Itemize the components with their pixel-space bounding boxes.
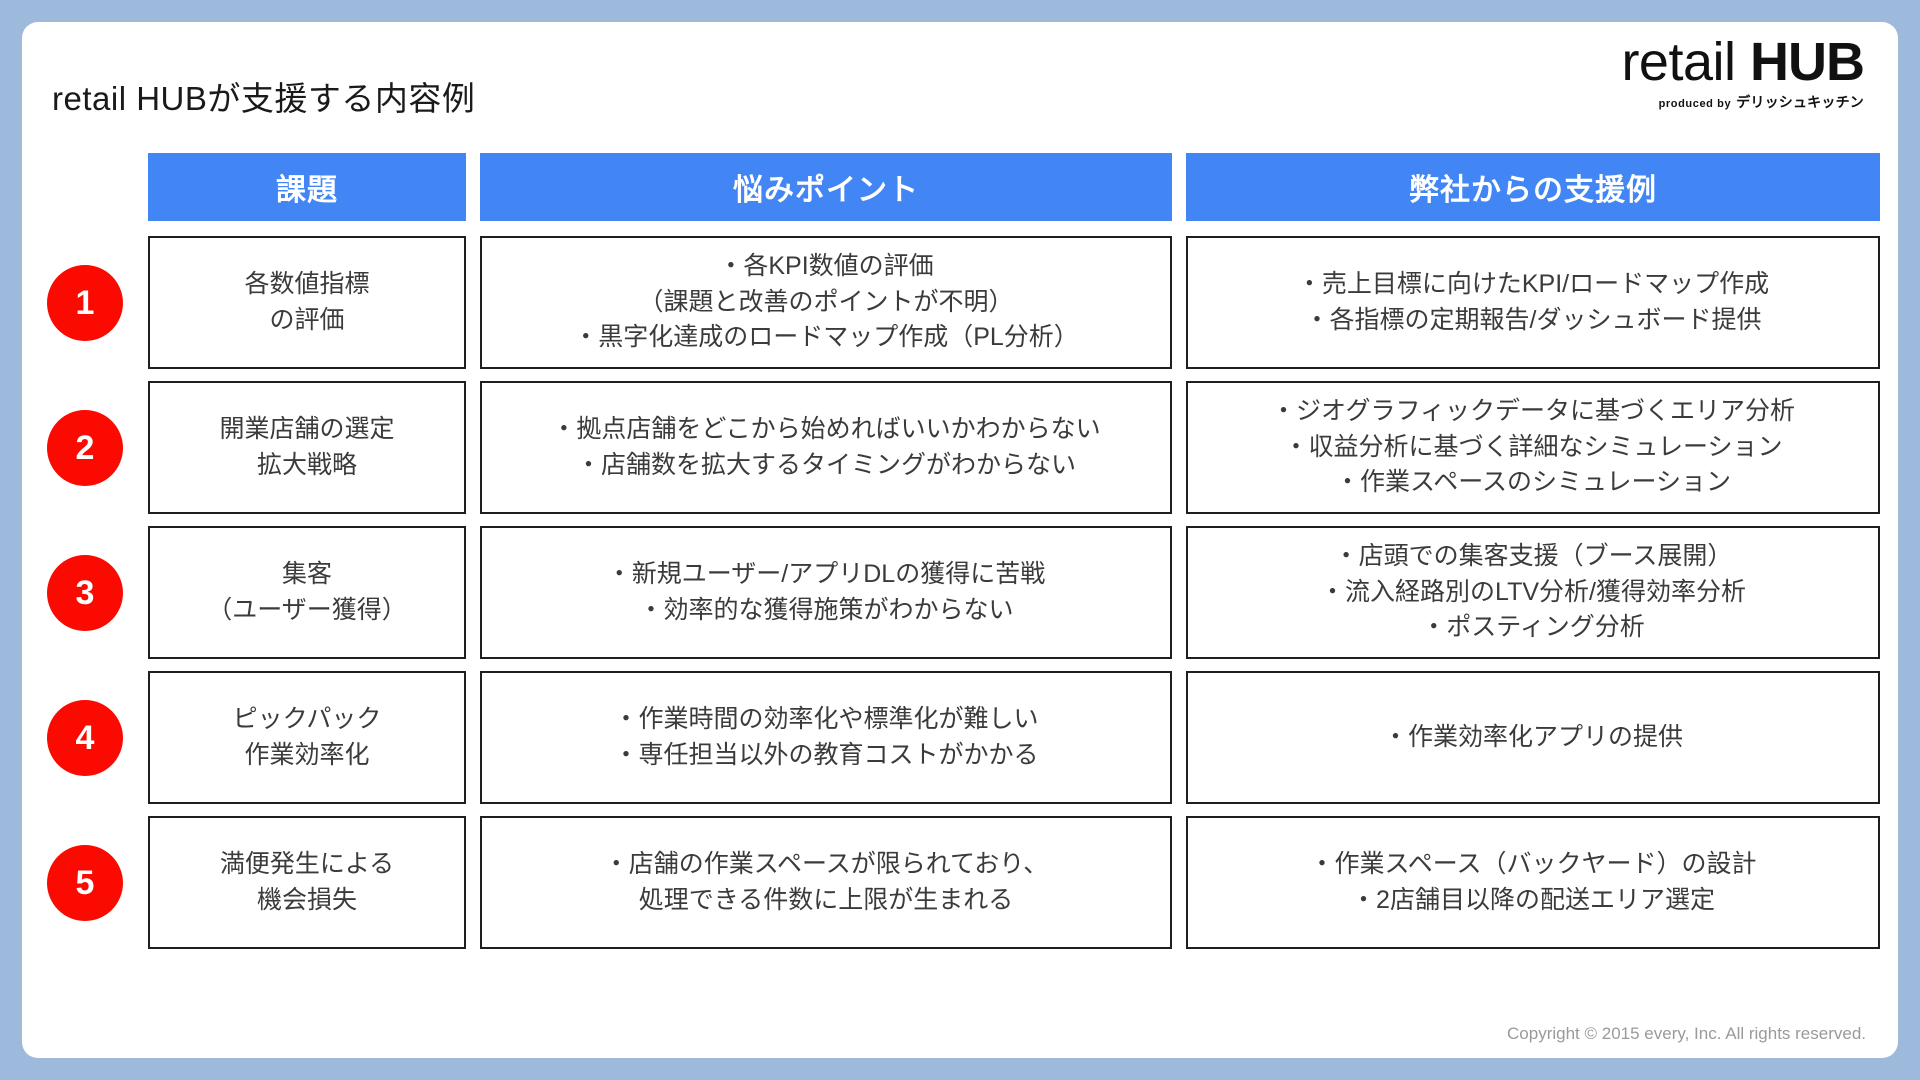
pain-cell-line: ・専任担当以外の教育コストがかかる	[492, 738, 1160, 774]
issue-cell-line: ピックパック	[160, 702, 454, 738]
issue-cell-line: 満便発生による	[160, 847, 454, 883]
support-cell: ・作業スペース（バックヤード）の設計・2店舗目以降の配送エリア選定	[1186, 816, 1880, 949]
pain-cell-line: ・店舗数を拡大するタイミングがわからない	[492, 448, 1160, 484]
support-cell-line: ・作業効率化アプリの提供	[1198, 720, 1868, 756]
support-cell-line: ・ポスティング分析	[1198, 610, 1868, 646]
table-header-row: 課題 悩みポイント 弊社からの支援例	[22, 153, 1898, 221]
pain-cell-lines: ・新規ユーザー/アプリDLの獲得に苦戦・効率的な獲得施策がわからない	[492, 557, 1160, 628]
support-cell-lines: ・売上目標に向けたKPI/ロードマップ作成・各指標の定期報告/ダッシュボード提供	[1198, 267, 1868, 338]
support-cell-line: ・売上目標に向けたKPI/ロードマップ作成	[1198, 267, 1868, 303]
pain-cell-lines: ・作業時間の効率化や標準化が難しい・専任担当以外の教育コストがかかる	[492, 702, 1160, 773]
support-cell-line: ・作業スペース（バックヤード）の設計	[1198, 847, 1868, 883]
table-row: 5満便発生による機会損失・店舗の作業スペースが限られており、処理できる件数に上限…	[22, 816, 1898, 949]
row-badge-cell: 1	[22, 236, 148, 369]
issue-cell: 満便発生による機会損失	[148, 816, 466, 949]
pain-cell-line: ・効率的な獲得施策がわからない	[492, 593, 1160, 629]
pain-cell-line: ・店舗の作業スペースが限られており、	[492, 847, 1160, 883]
support-cell-line: ・ジオグラフィックデータに基づくエリア分析	[1198, 394, 1868, 430]
row-number-badge: 1	[47, 265, 123, 341]
pain-cell-lines: ・店舗の作業スペースが限られており、処理できる件数に上限が生まれる	[492, 847, 1160, 918]
support-cell-line: ・流入経路別のLTV分析/獲得効率分析	[1198, 575, 1868, 611]
issue-cell-lines: 集客（ユーザー獲得）	[160, 557, 454, 628]
pain-cell: ・新規ユーザー/アプリDLの獲得に苦戦・効率的な獲得施策がわからない	[480, 526, 1172, 659]
support-cell-lines: ・作業スペース（バックヤード）の設計・2店舗目以降の配送エリア選定	[1198, 847, 1868, 918]
support-cell-line: ・収益分析に基づく詳細なシミュレーション	[1198, 430, 1868, 466]
pain-cell-lines: ・拠点店舗をどこから始めればいいかわからない・店舗数を拡大するタイミングがわから…	[492, 412, 1160, 483]
issue-cell-line: 拡大戦略	[160, 448, 454, 484]
pain-cell-line: ・作業時間の効率化や標準化が難しい	[492, 702, 1160, 738]
support-cell: ・売上目標に向けたKPI/ロードマップ作成・各指標の定期報告/ダッシュボード提供	[1186, 236, 1880, 369]
row-badge-cell: 2	[22, 381, 148, 514]
row-badge-cell: 4	[22, 671, 148, 804]
support-cell-line: ・店頭での集客支援（ブース展開）	[1198, 539, 1868, 575]
slide-card: retail HUBが支援する内容例 retail HUB produced b…	[22, 22, 1898, 1058]
support-cell: ・ジオグラフィックデータに基づくエリア分析・収益分析に基づく詳細なシミュレーショ…	[1186, 381, 1880, 514]
column-header-pain: 悩みポイント	[480, 153, 1172, 221]
table-body: 1各数値指標の評価・各KPI数値の評価（課題と改善のポイントが不明）・黒字化達成…	[22, 236, 1898, 949]
table-row: 3集客（ユーザー獲得）・新規ユーザー/アプリDLの獲得に苦戦・効率的な獲得施策が…	[22, 526, 1898, 659]
support-cell-lines: ・ジオグラフィックデータに基づくエリア分析・収益分析に基づく詳細なシミュレーショ…	[1198, 394, 1868, 501]
pain-cell: ・拠点店舗をどこから始めればいいかわからない・店舗数を拡大するタイミングがわから…	[480, 381, 1172, 514]
support-cell: ・店頭での集客支援（ブース展開）・流入経路別のLTV分析/獲得効率分析・ポスティ…	[1186, 526, 1880, 659]
support-cell-line: ・各指標の定期報告/ダッシュボード提供	[1198, 303, 1868, 339]
support-cell-lines: ・店頭での集客支援（ブース展開）・流入経路別のLTV分析/獲得効率分析・ポスティ…	[1198, 539, 1868, 646]
pain-cell-lines: ・各KPI数値の評価（課題と改善のポイントが不明）・黒字化達成のロードマップ作成…	[492, 249, 1160, 356]
support-cell-line: ・作業スペースのシミュレーション	[1198, 465, 1868, 501]
pain-cell-line: 処理できる件数に上限が生まれる	[492, 883, 1160, 919]
row-badge-cell: 3	[22, 526, 148, 659]
pain-cell-line: ・拠点店舗をどこから始めればいいかわからない	[492, 412, 1160, 448]
table-row: 4ピックパック作業効率化・作業時間の効率化や標準化が難しい・専任担当以外の教育コ…	[22, 671, 1898, 804]
column-header-support: 弊社からの支援例	[1186, 153, 1880, 221]
support-cell: ・作業効率化アプリの提供	[1186, 671, 1880, 804]
pain-cell-line: （課題と改善のポイントが不明）	[492, 285, 1160, 321]
page-title: retail HUBが支援する内容例	[52, 72, 475, 120]
logo-wordmark: retail HUB	[1621, 34, 1864, 91]
retail-hub-logo: retail HUB produced byデリッシュキッチン	[1621, 34, 1864, 112]
issue-cell: 各数値指標の評価	[148, 236, 466, 369]
row-number-badge: 2	[47, 410, 123, 486]
pain-cell-line: ・各KPI数値の評価	[492, 249, 1160, 285]
logo-brand-name: デリッシュキッチン	[1736, 94, 1864, 110]
row-number-badge: 5	[47, 845, 123, 921]
table-row: 1各数値指標の評価・各KPI数値の評価（課題と改善のポイントが不明）・黒字化達成…	[22, 236, 1898, 369]
logo-tagline: produced byデリッシュキッチン	[1621, 92, 1864, 112]
logo-wordmark-retail: retail	[1621, 32, 1750, 92]
row-badge-cell: 5	[22, 816, 148, 949]
issue-cell-line: 集客	[160, 557, 454, 593]
column-header-issue: 課題	[148, 153, 466, 221]
issue-cell-line: （ユーザー獲得）	[160, 593, 454, 629]
issue-cell: ピックパック作業効率化	[148, 671, 466, 804]
issue-cell: 集客（ユーザー獲得）	[148, 526, 466, 659]
issue-cell-line: 各数値指標	[160, 267, 454, 303]
badge-column-spacer	[22, 153, 148, 221]
issue-cell: 開業店舗の選定拡大戦略	[148, 381, 466, 514]
pain-cell-line: ・新規ユーザー/アプリDLの獲得に苦戦	[492, 557, 1160, 593]
pain-cell-line: ・黒字化達成のロードマップ作成（PL分析）	[492, 320, 1160, 356]
issue-cell-line: 機会損失	[160, 883, 454, 919]
pain-cell: ・各KPI数値の評価（課題と改善のポイントが不明）・黒字化達成のロードマップ作成…	[480, 236, 1172, 369]
support-cell-line: ・2店舗目以降の配送エリア選定	[1198, 883, 1868, 919]
issue-cell-lines: ピックパック作業効率化	[160, 702, 454, 773]
issue-cell-lines: 各数値指標の評価	[160, 267, 454, 338]
support-table: 課題 悩みポイント 弊社からの支援例 1各数値指標の評価・各KPI数値の評価（課…	[22, 153, 1898, 961]
issue-cell-line: の評価	[160, 303, 454, 339]
issue-cell-lines: 開業店舗の選定拡大戦略	[160, 412, 454, 483]
logo-produced-by: produced by	[1659, 98, 1732, 110]
issue-cell-line: 作業効率化	[160, 738, 454, 774]
pain-cell: ・店舗の作業スペースが限られており、処理できる件数に上限が生まれる	[480, 816, 1172, 949]
table-row: 2開業店舗の選定拡大戦略・拠点店舗をどこから始めればいいかわからない・店舗数を拡…	[22, 381, 1898, 514]
issue-cell-lines: 満便発生による機会損失	[160, 847, 454, 918]
row-number-badge: 4	[47, 700, 123, 776]
support-cell-lines: ・作業効率化アプリの提供	[1198, 720, 1868, 756]
copyright-text: Copyright © 2015 every, Inc. All rights …	[1507, 1024, 1866, 1044]
row-number-badge: 3	[47, 555, 123, 631]
pain-cell: ・作業時間の効率化や標準化が難しい・専任担当以外の教育コストがかかる	[480, 671, 1172, 804]
logo-wordmark-hub: HUB	[1750, 32, 1864, 92]
issue-cell-line: 開業店舗の選定	[160, 412, 454, 448]
